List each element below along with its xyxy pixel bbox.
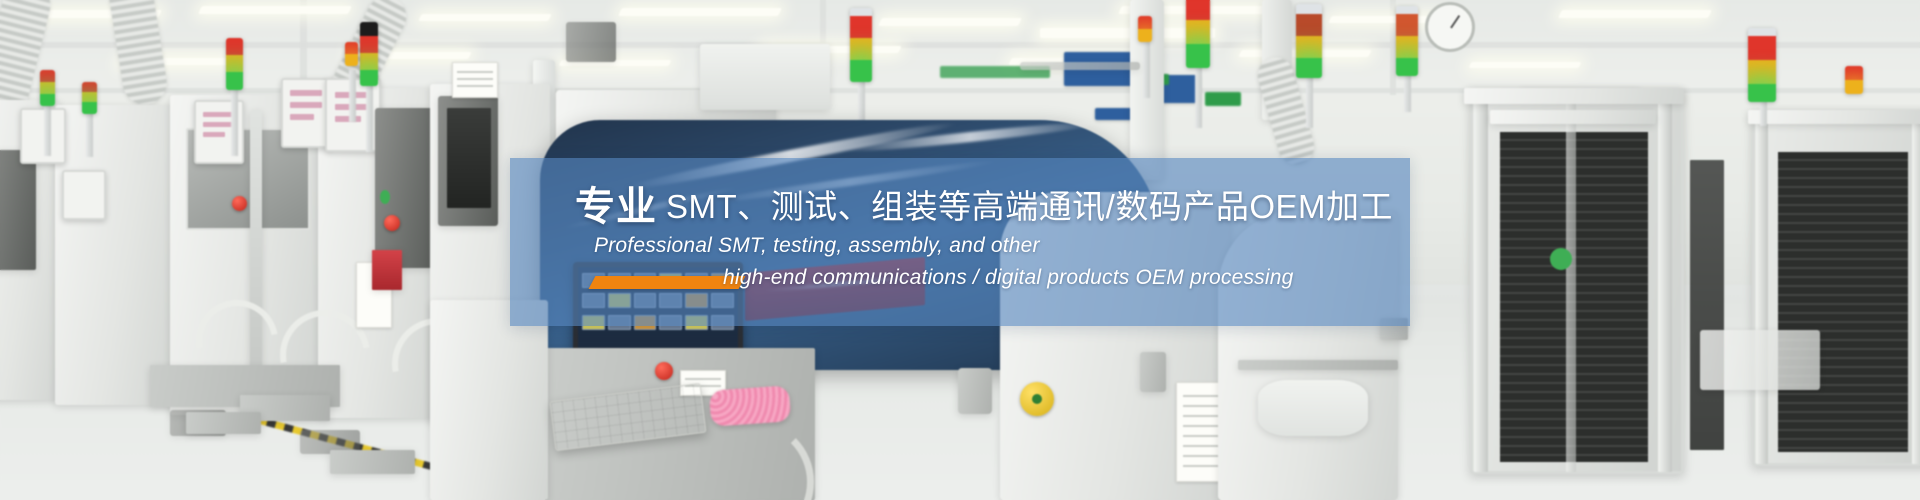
- banner-overlay: 专业SMT、测试、组装等高端通讯/数码产品OEM加工 Professional …: [510, 158, 1410, 326]
- banner-subtitle-line-2: high-end communications / digital produc…: [723, 266, 1294, 290]
- banner-hero: 专业SMT、测试、组装等高端通讯/数码产品OEM加工 Professional …: [0, 0, 1920, 500]
- headline-emphasis: 专业: [575, 185, 657, 229]
- headline-rest: SMT、测试、组装等高端通讯/数码产品OEM加工: [666, 188, 1393, 225]
- banner-headline: 专业SMT、测试、组装等高端通讯/数码产品OEM加工: [575, 174, 1393, 232]
- banner-subtitle-line-1: Professional SMT, testing, assembly, and…: [594, 234, 1040, 258]
- orange-accent-bar: [589, 276, 746, 289]
